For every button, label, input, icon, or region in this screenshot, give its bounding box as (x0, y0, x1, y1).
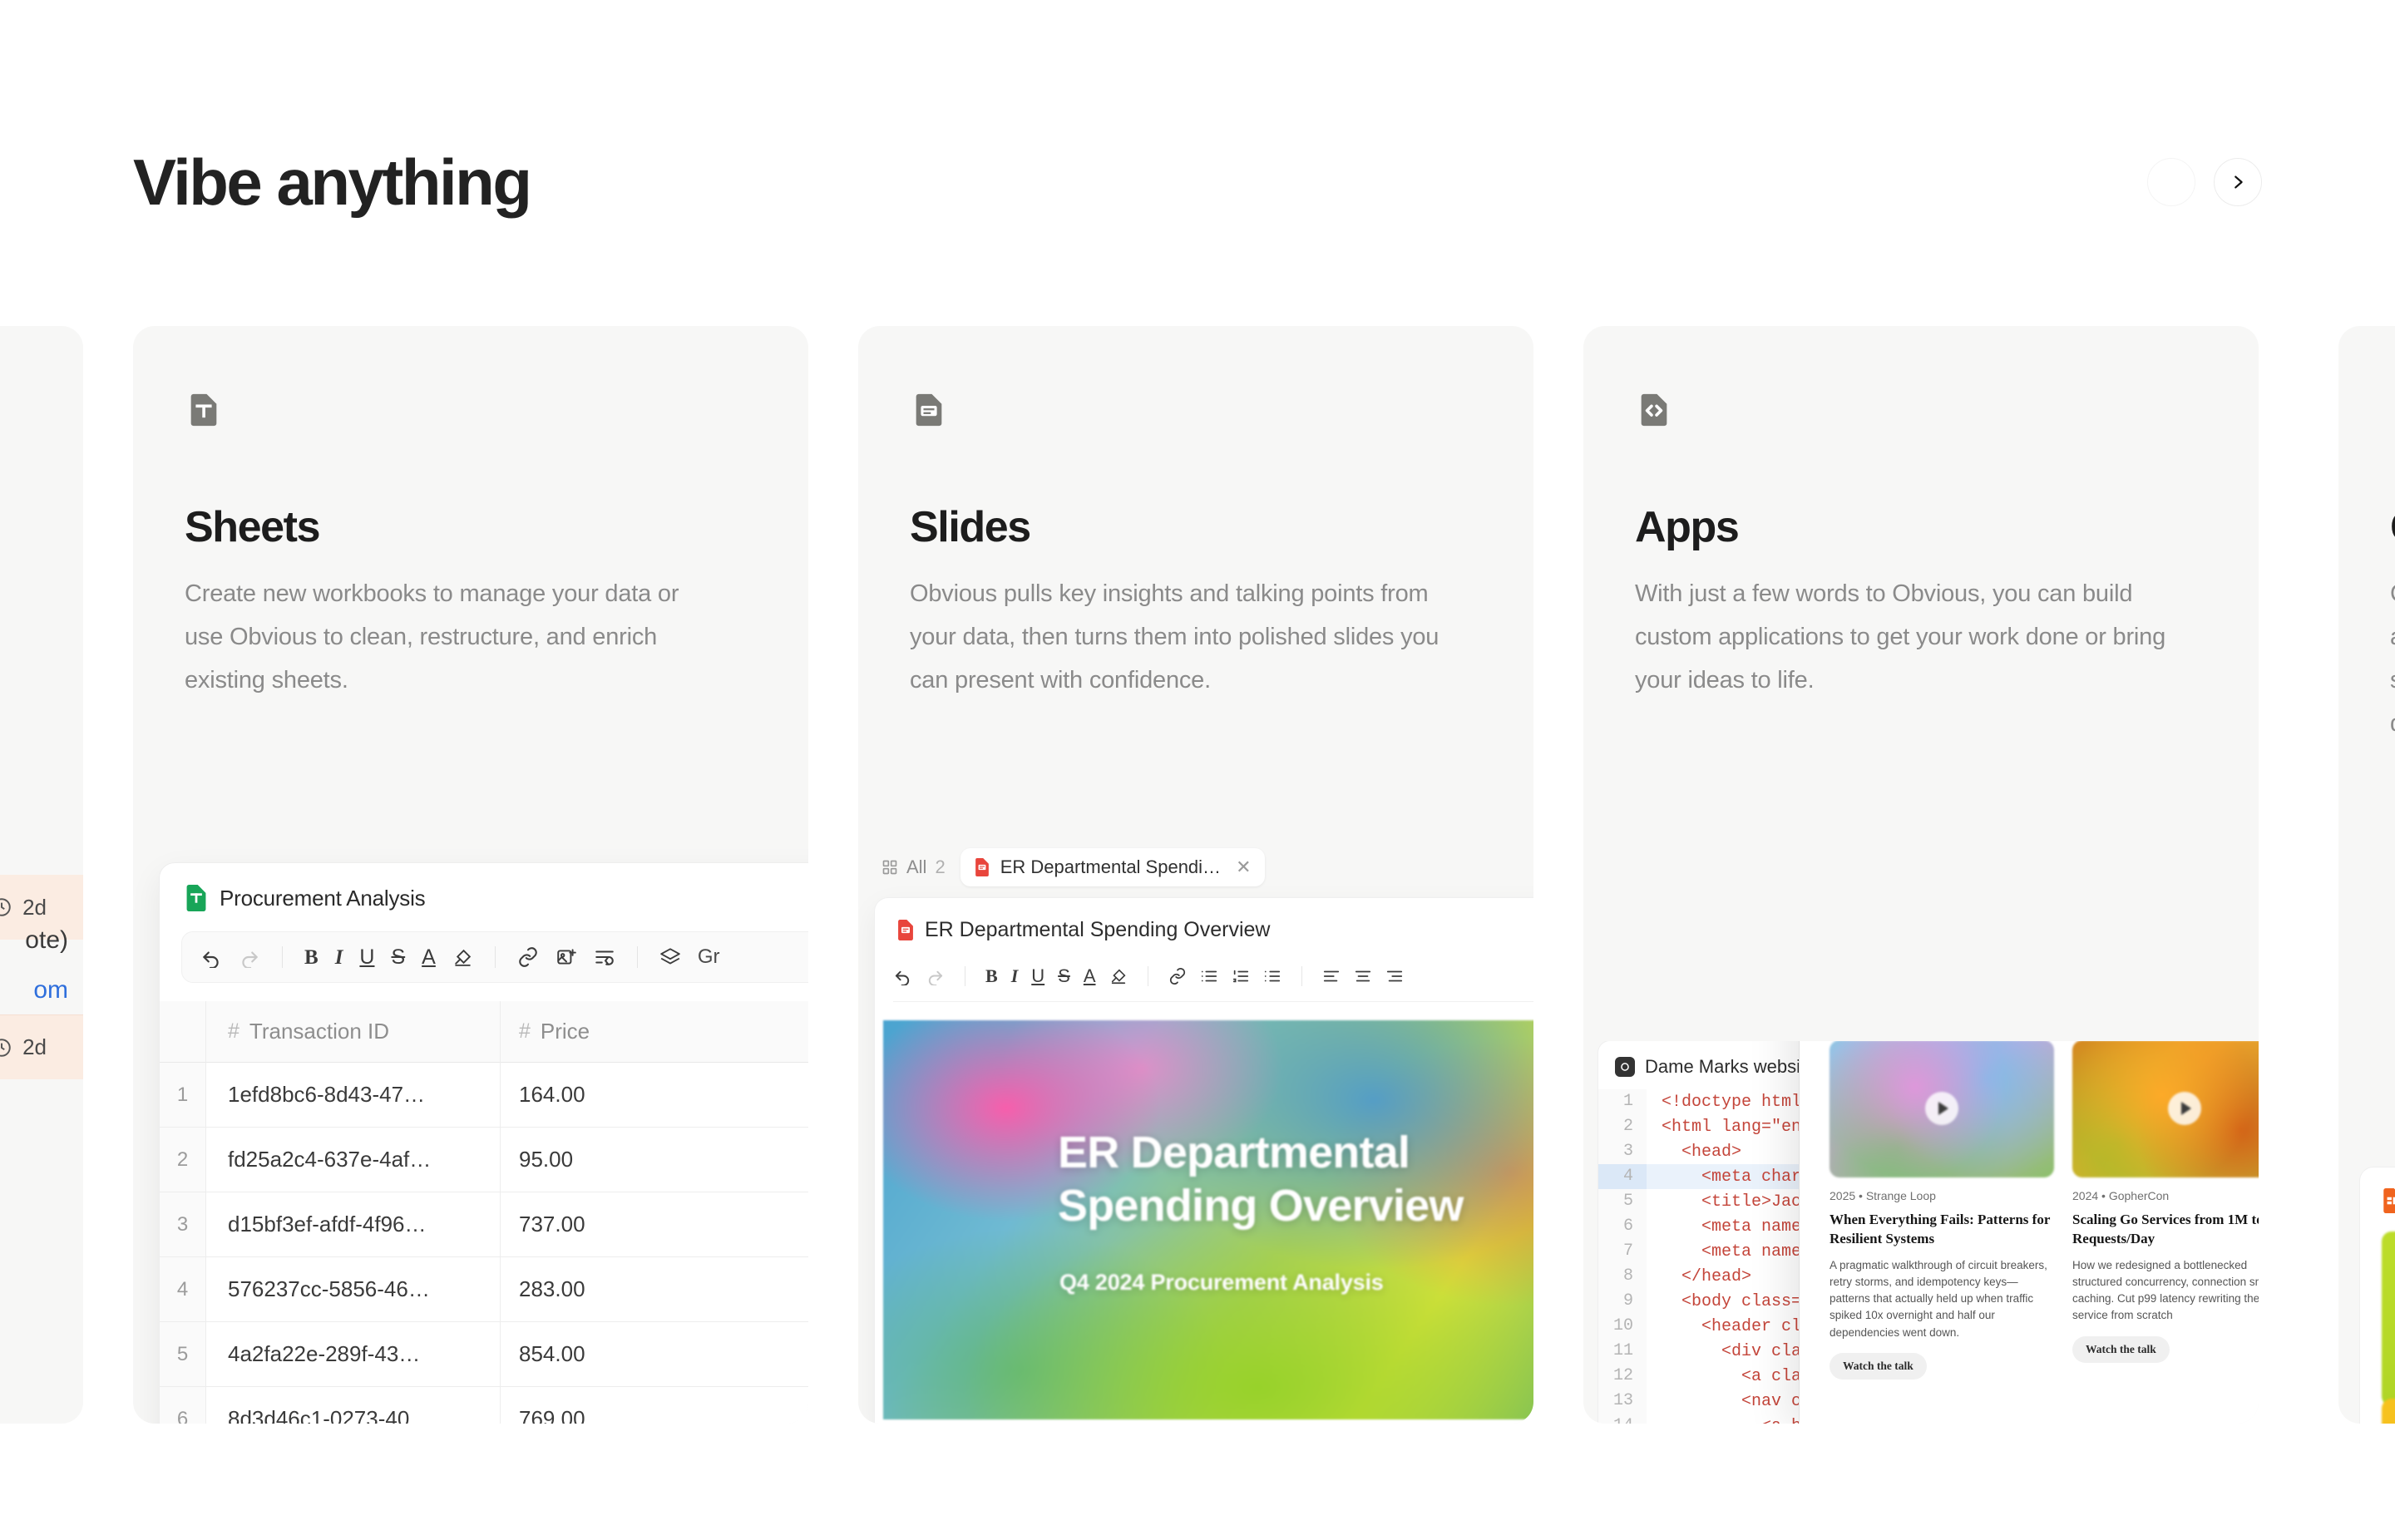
desc-line-2: as (2390, 615, 2395, 659)
talk-thumbnail[interactable] (2072, 1041, 2259, 1177)
line-text: <a class (1647, 1367, 1821, 1386)
redo-icon[interactable] (239, 946, 260, 968)
line-number: 2 (1598, 1114, 1647, 1139)
row-index: 3 (160, 1192, 206, 1257)
watch-talk-button[interactable]: Watch the talk (2072, 1336, 2170, 1363)
line-number: 11 (1598, 1339, 1647, 1364)
toolbar-divider-3 (1301, 966, 1302, 986)
align-left-icon[interactable] (1322, 967, 1341, 985)
line-text: <!doctype html> (1647, 1093, 1811, 1112)
desc-line-1: Cu (2390, 572, 2395, 615)
slide-preview-canvas[interactable]: ER Departmental Spending Overview Q4 202… (883, 1020, 1533, 1419)
cell-price[interactable]: 95.00 (501, 1128, 808, 1192)
left-card-mock: 2d ote) om 2d (0, 326, 83, 1424)
grid-icon (881, 859, 898, 876)
align-center-icon[interactable] (1354, 967, 1372, 985)
talk-card[interactable]: 2024 • GopherCon Scaling Go Services fro… (2072, 1041, 2259, 1380)
code-file-icon (1635, 391, 1673, 429)
nature-image-1 (2382, 1232, 2395, 1406)
highlight-icon[interactable] (1109, 967, 1128, 985)
vibe-anything-section: Vibe anything 2d ote) (0, 0, 2395, 1540)
carousel-prev-button[interactable] (2147, 158, 2195, 206)
apps-mock-window[interactable]: Dame Marks website portfol 1<!doctype ht… (1583, 1041, 2259, 1424)
tab-er-departmental-spending[interactable]: ER Departmental Spendi… ✕ (960, 848, 1265, 886)
cell-transaction-id[interactable]: 576237cc-5856-46… (206, 1257, 501, 1322)
nature-doc-header: Nat (2360, 1167, 2395, 1213)
row-index-header (160, 1001, 206, 1063)
slides-doc-name: ER Departmental Spending Overview (925, 918, 1270, 942)
strikethrough-icon[interactable]: S (391, 947, 405, 968)
underline-icon[interactable]: U (359, 947, 374, 968)
align-right-icon[interactable] (1385, 967, 1404, 985)
cell-price[interactable]: 164.00 (501, 1063, 808, 1128)
line-number: 6 (1598, 1214, 1647, 1239)
row-index: 5 (160, 1322, 206, 1387)
strikethrough-icon[interactable]: S (1058, 967, 1070, 985)
left-card-text-1: ote) (25, 926, 68, 955)
column-header-transaction-id[interactable]: # Transaction ID (206, 1001, 501, 1063)
bold-icon[interactable]: B (304, 947, 319, 968)
line-text: <nav cla (1647, 1392, 1821, 1411)
group-layers-icon[interactable] (659, 946, 681, 968)
nature-image-2 (2382, 1399, 2395, 1424)
toolbar-divider-2 (1148, 966, 1148, 986)
toolbar-divider (965, 966, 965, 986)
row-index: 2 (160, 1128, 206, 1192)
group-label[interactable]: Gr (698, 945, 720, 969)
badge-label-2: 2d (22, 1034, 47, 1060)
talks-list: 2025 • Strange Loop When Everything Fail… (1800, 1041, 2259, 1380)
feature-carousel[interactable]: 2d ote) om 2d Sheets (0, 326, 2395, 1424)
slides-doc-header: ER Departmental Spending Overview (875, 898, 1533, 942)
bullet-list-icon[interactable] (1200, 967, 1218, 985)
line-number: 4 (1598, 1164, 1647, 1189)
cell-price[interactable]: 283.00 (501, 1257, 808, 1322)
link-icon[interactable] (1168, 967, 1187, 985)
line-number: 8 (1598, 1264, 1647, 1289)
carousel-card-apps[interactable]: Apps With just a few words to Obvious, y… (1583, 326, 2259, 1424)
play-icon[interactable] (2168, 1092, 2201, 1125)
line-number: 14 (1598, 1414, 1647, 1424)
talk-body: A pragmatic walkthrough of circuit break… (1830, 1249, 2054, 1341)
carousel-card-partial-right[interactable]: G Cu as sh de Nat (2338, 326, 2395, 1424)
row-index: 1 (160, 1063, 206, 1128)
bold-icon[interactable]: B (985, 967, 998, 985)
play-icon[interactable] (1925, 1092, 1958, 1125)
status-badge-2: 2d (0, 1014, 83, 1079)
highlight-icon[interactable] (452, 947, 473, 968)
clock-icon (0, 896, 12, 918)
underline-icon[interactable]: U (1031, 967, 1044, 985)
undo-icon[interactable] (893, 966, 912, 985)
table-row[interactable]: 6 8d3d46c1-0273-40… 769.00 (160, 1387, 808, 1424)
slides-mock-window[interactable]: All 2 ER Departmental Spendi… ✕ (858, 835, 1533, 1424)
carousel-track: Sheets Create new workbooks to manage yo… (133, 326, 2259, 1424)
app-logo-icon (1615, 1057, 1635, 1077)
sheets-doc-name: Procurement Analysis (220, 886, 425, 911)
talk-card[interactable]: 2025 • Strange Loop When Everything Fail… (1830, 1041, 2054, 1380)
table-row[interactable]: 3 d15bf3ef-afdf-4f96… 737.00 (160, 1192, 808, 1257)
link-icon[interactable] (517, 946, 539, 968)
close-icon[interactable]: ✕ (1236, 856, 1251, 878)
wrap-text-icon[interactable] (594, 946, 615, 968)
talk-title: When Everything Fails: Patterns for Resi… (1830, 1202, 2054, 1249)
line-number: 1 (1598, 1089, 1647, 1114)
line-text: <html lang="en"> (1647, 1118, 1821, 1137)
clock-icon (0, 1037, 12, 1059)
nature-document[interactable]: Nat (2360, 1167, 2395, 1424)
line-text: <head> (1647, 1143, 1741, 1162)
carousel-card-slides[interactable]: Slides Obvious pulls key insights and ta… (858, 326, 1533, 1424)
column-label-2: Price (541, 1019, 590, 1044)
desc-line-3: sh (2390, 659, 2395, 702)
right-card-mock: Nat (2338, 1167, 2395, 1424)
line-number: 5 (1598, 1189, 1647, 1214)
table-row[interactable]: 2 fd25a2c4-637e-4af… 95.00 (160, 1128, 808, 1192)
text-color-icon[interactable]: A (1084, 967, 1096, 985)
slides-tab-bar[interactable]: All 2 ER Departmental Spendi… ✕ (858, 835, 1533, 886)
table-row[interactable]: 5 4a2fa22e-289f-43… 854.00 (160, 1322, 808, 1387)
line-number: 10 (1598, 1314, 1647, 1339)
watch-talk-button[interactable]: Watch the talk (1830, 1353, 1927, 1380)
slide-subtitle: Q4 2024 Procurement Analysis (1059, 1270, 1533, 1296)
talk-thumbnail[interactable] (1830, 1041, 2054, 1177)
line-number: 13 (1598, 1389, 1647, 1414)
table-row[interactable]: 1 1efd8bc6-8d43-47… 164.00 (160, 1063, 808, 1128)
table-header-row: # Transaction ID # Price ••• (160, 1001, 808, 1063)
slides-app-icon (974, 858, 990, 876)
carousel-next-button[interactable] (2214, 158, 2262, 206)
talk-meta: 2025 • Strange Loop (1830, 1177, 2054, 1202)
cell-price[interactable]: 769.00 (501, 1387, 808, 1424)
card-title-apps: Apps (1635, 502, 1738, 552)
slides-document[interactable]: ER Departmental Spending Overview B (875, 898, 1533, 1424)
cell-transaction-id[interactable]: fd25a2c4-637e-4af… (206, 1128, 501, 1192)
card-desc-sheets: Create new workbooks to manage your data… (185, 572, 717, 702)
column-header-price[interactable]: # Price ••• (501, 1001, 808, 1063)
card-desc-apps: With just a few words to Obvious, you ca… (1635, 572, 2167, 702)
cell-transaction-id[interactable]: 8d3d46c1-0273-40… (206, 1387, 501, 1424)
number-type-icon-2: # (519, 1019, 531, 1044)
desc-line-4: de (2390, 702, 2395, 745)
talk-body: How we redesigned a bottlenecked structu… (2072, 1249, 2259, 1325)
sheets-toolbar[interactable]: B I U S A (181, 931, 808, 983)
card-title-partial: G (2390, 502, 2395, 552)
line-number: 3 (1598, 1139, 1647, 1164)
tab-label: ER Departmental Spendi… (1000, 856, 1221, 878)
carousel-card-partial-left[interactable]: 2d ote) om 2d (0, 326, 83, 1424)
card-desc-partial: Cu as sh de (2390, 572, 2395, 745)
sheets-doc-header: Procurement Analysis (160, 863, 808, 911)
app-preview-pane[interactable]: DM Resume Writing Talks Work About Talks… (1800, 1041, 2259, 1424)
carousel-nav (2147, 158, 2262, 206)
numbered-list-icon[interactable] (1232, 967, 1250, 985)
line-number: 7 (1598, 1239, 1647, 1264)
line-text: </head> (1647, 1267, 1751, 1286)
tab-all[interactable]: All 2 (881, 856, 946, 878)
grid-file-icon (2390, 391, 2395, 429)
redo-icon[interactable] (926, 966, 945, 985)
cell-transaction-id[interactable]: 1efd8bc6-8d43-47… (206, 1063, 501, 1128)
toolbar-divider-2 (495, 946, 496, 968)
sheets-mock-window[interactable]: Procurement Analysis B I U S (160, 863, 808, 1424)
tab-all-label: All (906, 856, 926, 878)
slides-file-icon (910, 391, 948, 429)
card-title-sheets: Sheets (185, 502, 319, 552)
talk-title: Scaling Go Services from 1M to Requests/… (2072, 1202, 2259, 1249)
page-title: Vibe anything (133, 150, 530, 215)
sheet-file-icon (185, 391, 223, 429)
cell-transaction-id[interactable]: 4a2fa22e-289f-43… (206, 1322, 501, 1387)
line-text: <a hr (1647, 1417, 1811, 1424)
text-color-icon[interactable]: A (422, 947, 436, 968)
section-header: Vibe anything (0, 150, 2395, 249)
cell-transaction-id[interactable]: d15bf3ef-afdf-4f96… (206, 1192, 501, 1257)
indent-list-icon[interactable] (1263, 967, 1281, 985)
number-type-icon: # (228, 1019, 239, 1044)
toolbar-divider-3 (637, 946, 638, 968)
left-card-link[interactable]: om (33, 976, 68, 1004)
line-number: 12 (1598, 1364, 1647, 1389)
slides-toolbar[interactable]: B I U S A (893, 957, 1533, 1002)
toolbar-divider (282, 946, 283, 968)
nature-file-icon (2382, 1188, 2395, 1213)
italic-icon[interactable]: I (335, 947, 343, 968)
line-number: 9 (1598, 1289, 1647, 1314)
badge-label: 2d (22, 895, 47, 921)
slide-title: ER Departmental Spending Overview (1058, 1127, 1533, 1232)
sheets-app-icon (185, 885, 208, 911)
tab-all-count: 2 (935, 856, 945, 878)
row-index: 4 (160, 1257, 206, 1322)
carousel-card-sheets[interactable]: Sheets Create new workbooks to manage yo… (133, 326, 808, 1424)
cell-price[interactable]: 737.00 (501, 1192, 808, 1257)
sheets-table[interactable]: # Transaction ID # Price ••• 1 1efd8 (160, 1001, 808, 1424)
row-index: 6 (160, 1387, 206, 1424)
table-row[interactable]: 4 576237cc-5856-46… 283.00 (160, 1257, 808, 1322)
talk-meta: 2024 • GopherCon (2072, 1177, 2259, 1202)
insert-image-icon[interactable] (556, 946, 577, 968)
cell-price[interactable]: 854.00 (501, 1322, 808, 1387)
chevron-right-icon (2229, 173, 2247, 191)
column-label: Transaction ID (249, 1019, 389, 1044)
card-desc-slides: Obvious pulls key insights and talking p… (910, 572, 1442, 702)
slides-app-icon-2 (896, 920, 915, 940)
italic-icon[interactable]: I (1011, 967, 1019, 985)
undo-icon[interactable] (200, 946, 222, 968)
card-title-slides: Slides (910, 502, 1030, 552)
